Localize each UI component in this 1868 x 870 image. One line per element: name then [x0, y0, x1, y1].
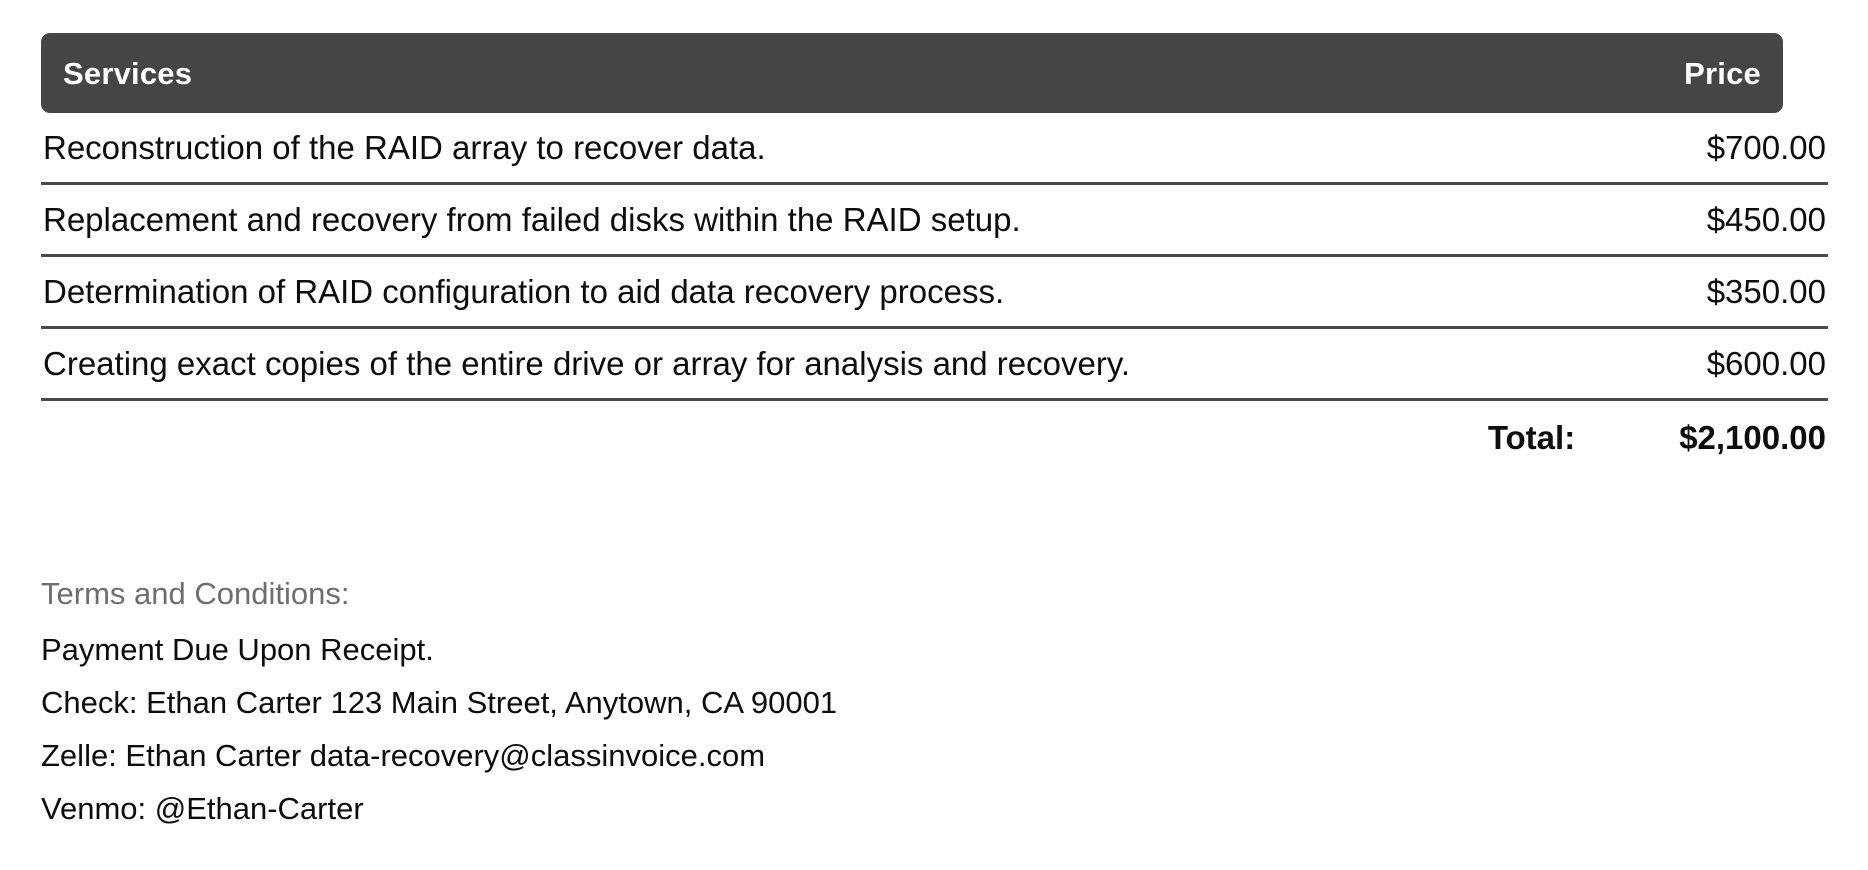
service-description: Determination of RAID configuration to a… — [43, 275, 1004, 308]
total-value: $2,100.00 — [1679, 421, 1826, 454]
terms-line-venmo: Venmo: @Ethan-Carter — [41, 793, 1828, 824]
service-description: Creating exact copies of the entire driv… — [43, 347, 1130, 380]
service-price: $700.00 — [1707, 131, 1826, 164]
table-row: Determination of RAID configuration to a… — [41, 257, 1828, 329]
service-description: Replacement and recovery from failed dis… — [43, 203, 1021, 236]
table-row: Reconstruction of the RAID array to reco… — [41, 113, 1828, 185]
terms-line-check: Check: Ethan Carter 123 Main Street, Any… — [41, 687, 1828, 718]
table-row: Creating exact copies of the entire driv… — [41, 329, 1828, 401]
table-header-row: Services Price — [41, 33, 1783, 113]
terms-and-conditions-section: Terms and Conditions: Payment Due Upon R… — [41, 578, 1828, 824]
service-price: $450.00 — [1707, 203, 1826, 236]
total-label: Total: — [1488, 421, 1575, 454]
terms-line-zelle: Zelle: Ethan Carter data-recovery@classi… — [41, 740, 1828, 771]
service-price: $600.00 — [1707, 347, 1826, 380]
service-price: $350.00 — [1707, 275, 1826, 308]
service-description: Reconstruction of the RAID array to reco… — [43, 131, 766, 164]
terms-line-payment-due: Payment Due Upon Receipt. — [41, 634, 1828, 665]
column-header-price: Price — [1684, 58, 1761, 89]
total-row: Total: $2,100.00 — [41, 401, 1828, 473]
table-body: Reconstruction of the RAID array to reco… — [41, 113, 1828, 473]
table-row: Replacement and recovery from failed dis… — [41, 185, 1828, 257]
services-table: Services Price Reconstruction of the RAI… — [41, 33, 1828, 473]
invoice-sheet: Services Price Reconstruction of the RAI… — [0, 0, 1868, 870]
column-header-services: Services — [63, 58, 192, 89]
terms-heading: Terms and Conditions: — [41, 578, 1828, 609]
